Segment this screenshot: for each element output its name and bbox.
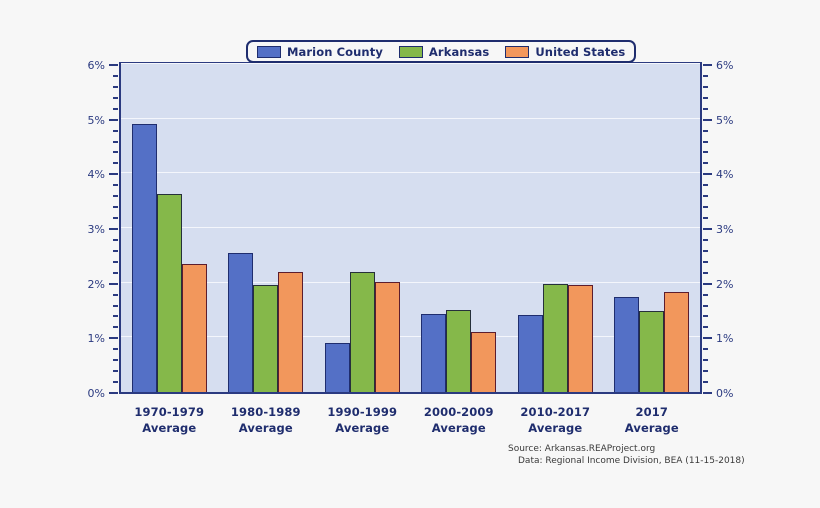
bar[interactable] (639, 311, 664, 392)
axis-tick-major (703, 173, 712, 175)
y-axis-tick-label: 2% (88, 279, 105, 290)
y-axis-left: 0%1%2%3%4%5%6% (118, 62, 119, 394)
axis-tick-major (703, 283, 712, 285)
axis-tick-minor (703, 162, 708, 164)
axis-tick-minor (113, 184, 118, 186)
axis-tick-minor (113, 305, 118, 307)
bar-groups (121, 64, 700, 392)
axis-tick-minor (703, 326, 708, 328)
bar-group (218, 64, 315, 392)
axis-tick-minor (703, 294, 708, 296)
legend-swatch-marion-county (257, 46, 281, 58)
bar[interactable] (518, 315, 543, 392)
axis-tick-major (109, 173, 118, 175)
x-axis-label: 1970-1979Average (121, 404, 218, 436)
axis-tick-minor (113, 272, 118, 274)
x-axis-label: 2010-2017Average (507, 404, 604, 436)
axis-tick-major (109, 64, 118, 66)
y-axis-tick-label: 3% (716, 224, 733, 235)
axis-tick-minor (703, 272, 708, 274)
y-axis-tick-label: 0% (716, 388, 733, 399)
axis-tick-minor (703, 130, 708, 132)
bar[interactable] (253, 285, 278, 392)
axis-tick-major (703, 392, 712, 394)
axis-tick-minor (113, 294, 118, 296)
bar[interactable] (568, 285, 593, 392)
axis-tick-minor (703, 239, 708, 241)
bar-group (507, 64, 604, 392)
axis-tick-minor (703, 86, 708, 88)
y-axis-tick-label: 6% (88, 60, 105, 71)
axis-tick-minor (113, 348, 118, 350)
axis-tick-minor (703, 348, 708, 350)
x-axis-label: 2017Average (604, 404, 701, 436)
bar[interactable] (157, 194, 182, 392)
axis-tick-minor (703, 250, 708, 252)
y-axis-tick-label: 0% (88, 388, 105, 399)
legend-swatch-united-states (505, 46, 529, 58)
axis-tick-minor (113, 261, 118, 263)
axis-tick-major (703, 228, 712, 230)
legend-item-united-states[interactable]: United States (505, 45, 625, 59)
x-axis-labels: 1970-1979Average1980-1989Average1990-199… (121, 404, 700, 436)
axis-tick-minor (703, 195, 708, 197)
bar[interactable] (614, 297, 639, 392)
axis-tick-minor (113, 381, 118, 383)
axis-tick-minor (113, 239, 118, 241)
axis-tick-major (109, 119, 118, 121)
axis-tick-minor (113, 151, 118, 153)
axis-tick-minor (703, 381, 708, 383)
axis-tick-minor (113, 97, 118, 99)
bar-group (121, 64, 218, 392)
bar[interactable] (375, 282, 400, 392)
axis-tick-minor (113, 130, 118, 132)
bar-chart: Marion County Arkansas United States 0%1… (0, 0, 820, 508)
axis-tick-minor (113, 108, 118, 110)
bar[interactable] (228, 253, 253, 392)
bar[interactable] (471, 332, 496, 392)
bar[interactable] (278, 272, 303, 392)
bar[interactable] (421, 314, 446, 392)
bar-group (411, 64, 508, 392)
axis-tick-minor (703, 315, 708, 317)
axis-tick-minor (703, 141, 708, 143)
axis-tick-minor (703, 75, 708, 77)
axis-tick-major (703, 64, 712, 66)
axis-tick-minor (703, 305, 708, 307)
y-axis-tick-label: 4% (716, 169, 733, 180)
axis-tick-minor (703, 261, 708, 263)
axis-tick-minor (113, 370, 118, 372)
y-axis-tick-label: 4% (88, 169, 105, 180)
legend-swatch-arkansas (399, 46, 423, 58)
bar-group (314, 64, 411, 392)
axis-tick-minor (113, 250, 118, 252)
y-axis-right: 0%1%2%3%4%5%6% (702, 62, 703, 394)
x-axis-label: 1990-1999Average (314, 404, 411, 436)
axis-tick-minor (703, 206, 708, 208)
bar[interactable] (325, 343, 350, 392)
y-axis-tick-label: 5% (716, 115, 733, 126)
bar[interactable] (446, 310, 471, 392)
axis-tick-major (703, 119, 712, 121)
axis-tick-minor (703, 217, 708, 219)
y-axis-tick-label: 1% (716, 333, 733, 344)
axis-tick-minor (113, 326, 118, 328)
bar[interactable] (543, 284, 568, 392)
axis-tick-minor (703, 97, 708, 99)
axis-tick-minor (113, 162, 118, 164)
axis-tick-minor (113, 359, 118, 361)
data-line: Data: Regional Income Division, BEA (11-… (508, 455, 745, 467)
axis-tick-minor (703, 151, 708, 153)
y-axis-tick-label: 1% (88, 333, 105, 344)
chart-legend: Marion County Arkansas United States (246, 40, 636, 63)
axis-tick-minor (703, 108, 708, 110)
y-axis-tick-label: 2% (716, 279, 733, 290)
y-axis-tick-label: 6% (716, 60, 733, 71)
axis-tick-minor (113, 217, 118, 219)
axis-tick-minor (113, 195, 118, 197)
axis-tick-minor (113, 206, 118, 208)
legend-item-arkansas[interactable]: Arkansas (399, 45, 489, 59)
axis-tick-major (109, 228, 118, 230)
bar[interactable] (182, 264, 207, 392)
axis-tick-minor (113, 141, 118, 143)
source-line: Source: Arkansas.REAProject.org (508, 443, 745, 455)
x-axis-label: 2000-2009Average (411, 404, 508, 436)
source-note: Source: Arkansas.REAProject.org Data: Re… (508, 443, 745, 467)
legend-item-marion-county[interactable]: Marion County (257, 45, 383, 59)
bar[interactable] (132, 124, 157, 392)
axis-tick-minor (113, 315, 118, 317)
y-axis-tick-label: 5% (88, 115, 105, 126)
axis-tick-major (109, 283, 118, 285)
axis-tick-minor (703, 370, 708, 372)
axis-tick-minor (113, 86, 118, 88)
axis-tick-minor (703, 359, 708, 361)
legend-label-united-states: United States (535, 45, 625, 59)
y-axis-tick-label: 3% (88, 224, 105, 235)
bar-group (604, 64, 701, 392)
bar[interactable] (664, 292, 689, 392)
axis-tick-major (703, 337, 712, 339)
legend-label-arkansas: Arkansas (429, 45, 489, 59)
x-axis-label: 1980-1989Average (218, 404, 315, 436)
axis-tick-major (109, 392, 118, 394)
axis-tick-major (109, 337, 118, 339)
legend-label-marion-county: Marion County (287, 45, 383, 59)
bar[interactable] (350, 272, 375, 392)
axis-tick-minor (703, 184, 708, 186)
axis-tick-minor (113, 75, 118, 77)
